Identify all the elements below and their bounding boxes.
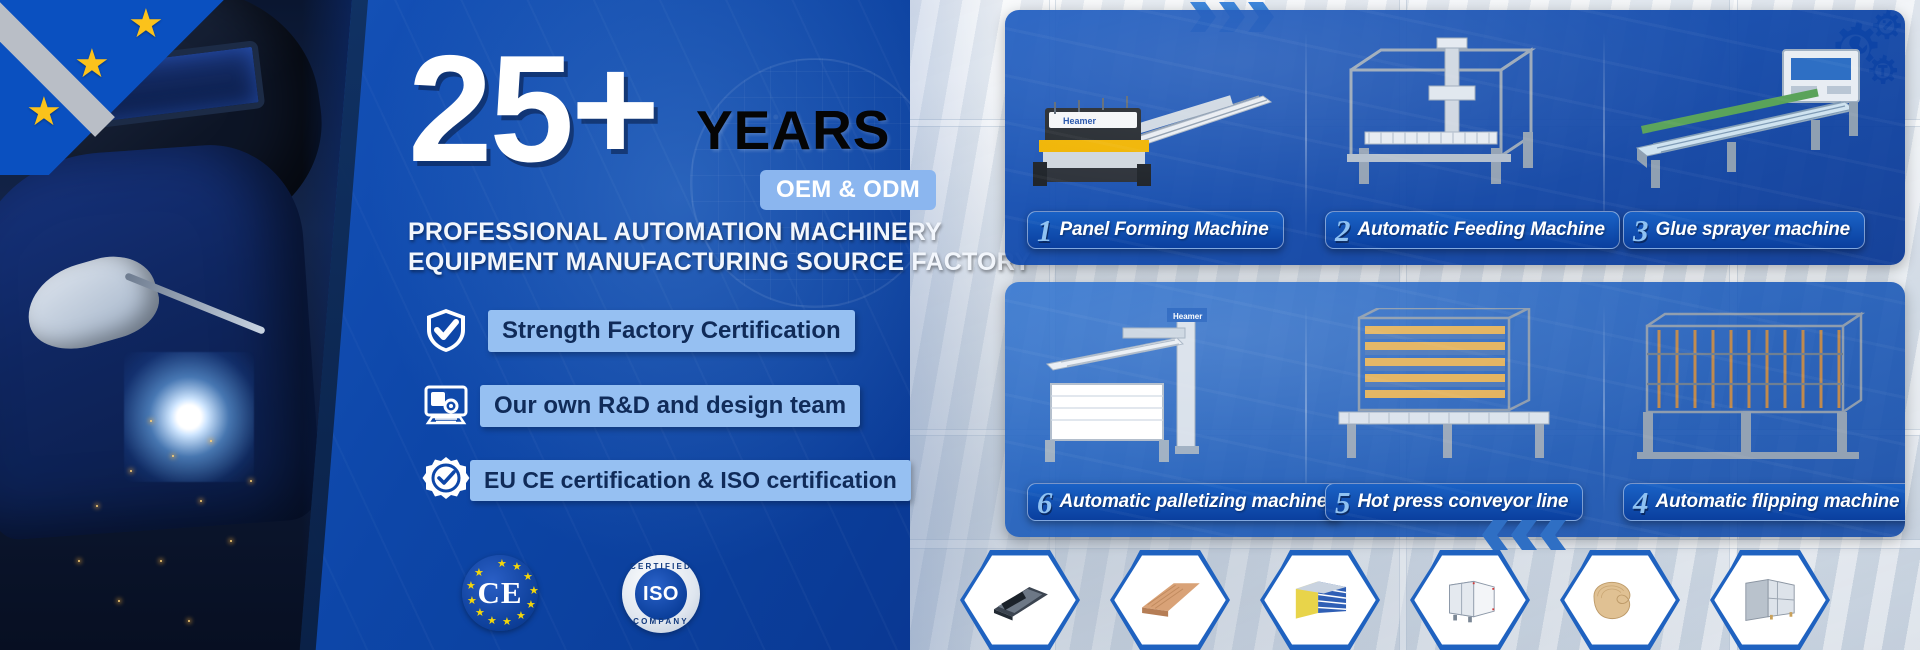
feature-list: Strength Factory Certification Our own R…	[422, 300, 902, 525]
automatic-flipping-machine-image	[1623, 308, 1881, 468]
monitor-design-icon	[422, 381, 476, 435]
company-subtitle: PROFESSIONAL AUTOMATION MACHINERY EQUIPM…	[408, 218, 908, 277]
machine-row-top: Heamer 1 Panel Forming Machine	[1005, 10, 1905, 265]
machine-badge[interactable]: 3 Glue sprayer machine	[1623, 211, 1865, 249]
oem-odm-badge: OEM & ODM	[760, 170, 936, 210]
years-label: YEARS	[696, 98, 891, 162]
machine-label: Automatic Feeding Machine	[1358, 219, 1605, 241]
machine-row-bottom: Heamer	[1005, 282, 1905, 537]
machine-card[interactable]: 2 Automatic Feeding Machine	[1311, 10, 1597, 265]
machine-number: 1	[1037, 215, 1053, 246]
machine-card[interactable]: 5 Hot press conveyor line	[1311, 282, 1597, 537]
cell-divider	[1603, 304, 1605, 514]
machine-number: 4	[1633, 487, 1649, 518]
ribbon-star-icon: ★	[26, 92, 62, 132]
machine-label: Automatic palletizing machine	[1060, 491, 1328, 513]
glue-sprayer-machine-image	[1623, 36, 1881, 196]
automatic-palletizing-machine-image: Heamer	[1027, 308, 1285, 468]
machine-card-grid: Heamer 1 Panel Forming Machine	[1005, 10, 1905, 535]
promo-banner: ★ ★ ★ 25+ YEARS OEM & ODM PROFESSIONAL A…	[0, 0, 1920, 650]
feature-label: EU CE certification & ISO certification	[470, 460, 911, 501]
machine-card[interactable]: Heamer	[1013, 282, 1299, 537]
chevron-left-icon	[1511, 520, 1537, 550]
corner-ribbon-decor: ★ ★ ★	[0, 0, 230, 175]
ribbon-blue-stripe	[0, 0, 230, 175]
iso-label: ISO	[635, 568, 687, 620]
feature-item: Strength Factory Certification	[422, 300, 902, 375]
hot-press-conveyor-line-image	[1325, 308, 1583, 468]
feature-label: Strength Factory Certification	[488, 310, 855, 352]
machine-badge[interactable]: 6 Automatic palletizing machine	[1027, 483, 1342, 521]
automatic-feeding-machine-image	[1325, 36, 1583, 196]
ce-label: CE	[462, 555, 538, 631]
ribbon-star-icon: ★	[128, 4, 164, 44]
iso-bottom-text: COMPANY	[622, 617, 700, 626]
subtitle-line-1: PROFESSIONAL AUTOMATION MACHINERY	[408, 218, 908, 248]
chevron-left-icon	[1540, 520, 1566, 550]
machine-number: 2	[1335, 215, 1351, 246]
machine-card[interactable]: 4 Automatic flipping machine	[1609, 282, 1895, 537]
ce-mark-icon: ★ ★ ★ ★ ★ ★ ★ ★ ★ ★ ★ ★ CE	[462, 555, 538, 631]
machine-badge[interactable]: 4 Automatic flipping machine	[1623, 483, 1905, 521]
machine-number: 6	[1037, 487, 1053, 518]
machine-badge[interactable]: 5 Hot press conveyor line	[1325, 483, 1583, 521]
subtitle-line-2: EQUIPMENT MANUFACTURING SOURCE FACTORY	[408, 248, 908, 278]
panel-forming-machine-image: Heamer	[1027, 36, 1285, 196]
cell-divider	[1305, 32, 1307, 242]
machine-label: Panel Forming Machine	[1060, 219, 1269, 241]
machine-badge[interactable]: 2 Automatic Feeding Machine	[1325, 211, 1620, 249]
cell-divider	[1603, 32, 1605, 242]
chevron-left-icon	[1482, 520, 1508, 550]
svg-text:Heamer: Heamer	[1173, 312, 1202, 321]
svg-text:Heamer: Heamer	[1063, 116, 1097, 126]
machine-card[interactable]: Heamer 1 Panel Forming Machine	[1013, 10, 1299, 265]
iso-top-text: CERTIFIED	[622, 562, 700, 571]
machine-label: Hot press conveyor line	[1358, 491, 1569, 513]
ribbon-star-icon: ★	[74, 44, 110, 84]
cell-divider	[1305, 304, 1307, 514]
headline-block: 25+ YEARS OEM & ODM	[408, 40, 908, 180]
iso-seal-icon: CERTIFIED ISO COMPANY	[622, 555, 700, 633]
shield-check-icon	[422, 306, 476, 360]
feature-item: EU CE certification & ISO certification	[422, 450, 902, 525]
machine-badge[interactable]: 1 Panel Forming Machine	[1027, 211, 1284, 249]
machine-number: 5	[1335, 487, 1351, 518]
machine-label: Glue sprayer machine	[1656, 219, 1851, 241]
feature-item: Our own R&D and design team	[422, 375, 902, 450]
product-thumbnail-strip	[960, 550, 1900, 650]
chevron-left-group-bottom	[1482, 520, 1566, 550]
machine-card[interactable]: 3 Glue sprayer machine	[1609, 10, 1895, 265]
feature-label: Our own R&D and design team	[480, 385, 860, 427]
machine-label: Automatic flipping machine	[1656, 491, 1900, 513]
certification-badges: ★ ★ ★ ★ ★ ★ ★ ★ ★ ★ ★ ★ CE CERTIFIED ISO…	[462, 555, 782, 645]
machine-number: 3	[1633, 215, 1649, 246]
years-count: 25+	[408, 40, 657, 180]
certified-seal-icon	[422, 456, 476, 510]
